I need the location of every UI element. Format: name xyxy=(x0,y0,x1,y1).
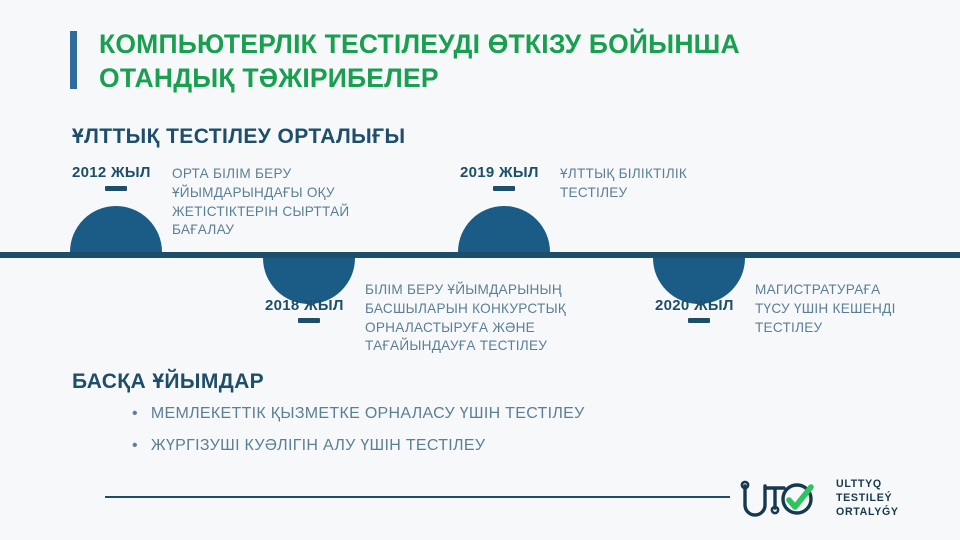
timeline-marker-2019 xyxy=(458,206,550,252)
timeline-year-2018: 2018 ЖЫЛ xyxy=(265,297,344,314)
timeline-description-2020: МАГИСТРАТУРАҒА ТҮСУ ҮШІН КЕШЕНДІ ТЕСТІЛЕ… xyxy=(755,281,955,337)
logo-text: ULTTYQ TESTILEÝ ORTALYǴY xyxy=(836,478,899,520)
timeline-year-2020: 2020 ЖЫЛ xyxy=(655,297,734,314)
title-line-2: ОТАНДЫҚ ТӘЖІРИБЕЛЕР xyxy=(99,62,740,96)
logo-text-line-1: ULTTYQ xyxy=(836,478,899,492)
title-line-1: КОМПЬЮТЕРЛІК ТЕСТІЛЕУДІ ӨТКІЗУ БОЙЫНША xyxy=(99,28,740,62)
bullet-icon: • xyxy=(132,438,138,454)
timeline-description-2019: ҰЛТТЫҚ БІЛІКТІЛІК ТЕСТІЛЕУ xyxy=(560,165,780,203)
bullet-icon: • xyxy=(132,406,138,422)
list-item: • ЖҮРГІЗУШІ КУӘЛІГІН АЛУ ҮШІН ТЕСТІЛЕУ xyxy=(132,437,585,455)
list-item-label: МЕМЛЕКЕТТІК ҚЫЗМЕТКЕ ОРНАЛАСУ ҮШІН ТЕСТІ… xyxy=(151,405,585,423)
other-organizations-list: • МЕМЛЕКЕТТІК ҚЫЗМЕТКЕ ОРНАЛАСУ ҮШІН ТЕС… xyxy=(132,405,585,469)
logo: ULTTYQ TESTILEÝ ORTALYǴY xyxy=(735,476,899,522)
timeline-marker-2012 xyxy=(70,206,162,252)
uto-logo-icon xyxy=(735,476,827,522)
section-heading-other: БАСҚА ҰЙЫМДАР xyxy=(72,370,264,394)
list-item: • МЕМЛЕКЕТТІК ҚЫЗМЕТКЕ ОРНАЛАСУ ҮШІН ТЕС… xyxy=(132,405,585,423)
timeline-year-2012: 2012 ЖЫЛ xyxy=(72,164,151,181)
timeline-dash-2012 xyxy=(105,186,127,191)
title-accent-bar xyxy=(70,31,77,89)
timeline-dash-2018 xyxy=(298,318,320,323)
timeline-description-2012: ОРТА БІЛІМ БЕРУ ҰЙЫМДАРЫНДАҒЫ ОҚУ ЖЕТІСТ… xyxy=(172,165,402,240)
timeline-axis-line xyxy=(0,252,960,258)
section-heading-timeline: ҰЛТТЫҚ ТЕСТІЛЕУ ОРТАЛЫҒЫ xyxy=(72,125,405,149)
title-text: КОМПЬЮТЕРЛІК ТЕСТІЛЕУДІ ӨТКІЗУ БОЙЫНША О… xyxy=(99,28,740,96)
list-item-label: ЖҮРГІЗУШІ КУӘЛІГІН АЛУ ҮШІН ТЕСТІЛЕУ xyxy=(151,437,485,455)
timeline-dash-2020 xyxy=(688,318,710,323)
timeline-year-2019: 2019 ЖЫЛ xyxy=(460,164,539,181)
timeline-description-2018: БІЛІМ БЕРУ ҰЙЫМДАРЫНЫҢ БАСШЫЛАРЫН КОНКУР… xyxy=(365,281,615,356)
timeline-dash-2019 xyxy=(493,186,515,191)
page-title: КОМПЬЮТЕРЛІК ТЕСТІЛЕУДІ ӨТКІЗУ БОЙЫНША О… xyxy=(70,28,850,96)
logo-text-line-3: ORTALYǴY xyxy=(836,506,899,520)
logo-text-line-2: TESTILEÝ xyxy=(836,492,899,506)
footer-divider xyxy=(105,496,730,498)
